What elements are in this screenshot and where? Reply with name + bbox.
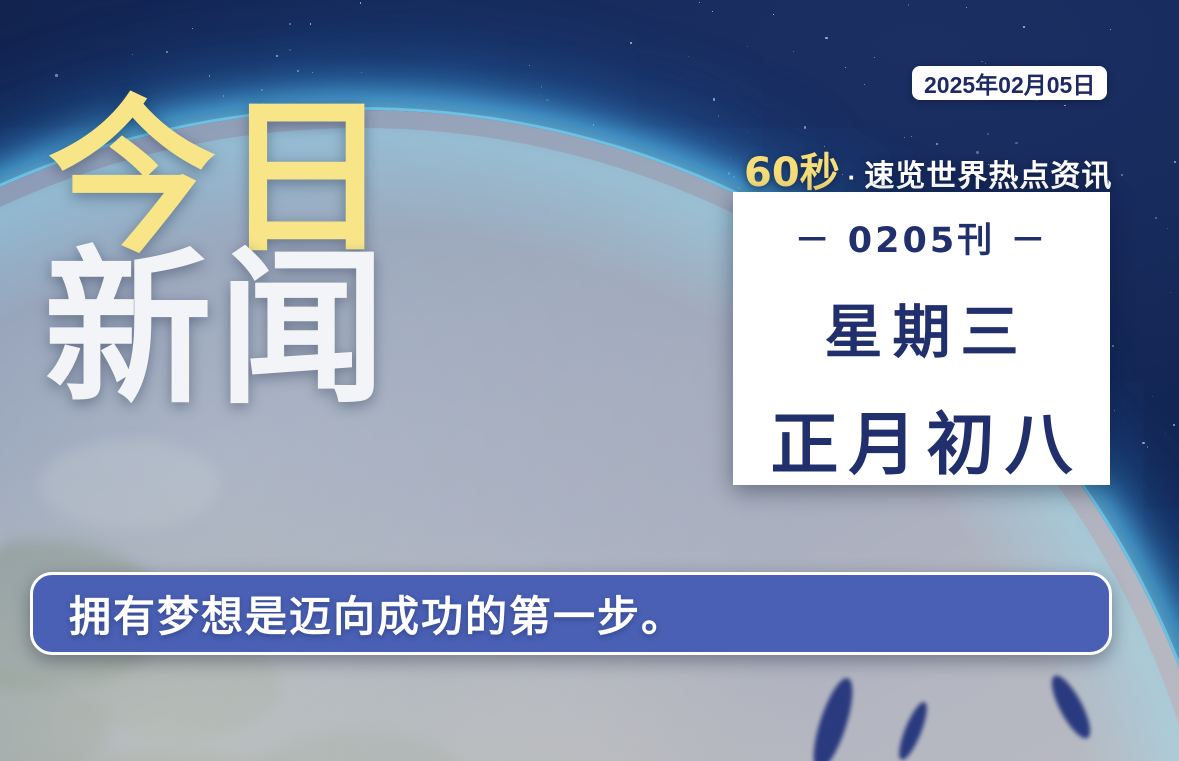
- poster-title: 今日 新闻: [48, 96, 468, 411]
- lunar-date-label: 正月初八: [760, 389, 1082, 488]
- slogan-separator: ·: [848, 162, 857, 193]
- date-badge: 2025年02月05日: [912, 66, 1107, 100]
- news-poster: sabicn 今日 新闻 2025年02月05日 60秒 · 速览世界热点资讯 …: [0, 0, 1179, 761]
- watermark-text: sabicn: [462, 198, 553, 227]
- quote-text: 拥有梦想是迈向成功的第一步。: [69, 583, 685, 644]
- slogan-line: 60秒 · 速览世界热点资讯: [744, 140, 1112, 198]
- title-line-xinwen: 新闻: [44, 247, 468, 412]
- issue-number: － 0205刊 －: [795, 212, 1049, 263]
- quote-banner: 拥有梦想是迈向成功的第一步。: [30, 572, 1112, 655]
- slogan-seconds: 60秒: [744, 140, 840, 198]
- slogan-text: 速览世界热点资讯: [864, 151, 1112, 195]
- weekday-label: 星期三: [814, 285, 1028, 369]
- date-info-card: － 0205刊 － 星期三 正月初八: [733, 192, 1110, 485]
